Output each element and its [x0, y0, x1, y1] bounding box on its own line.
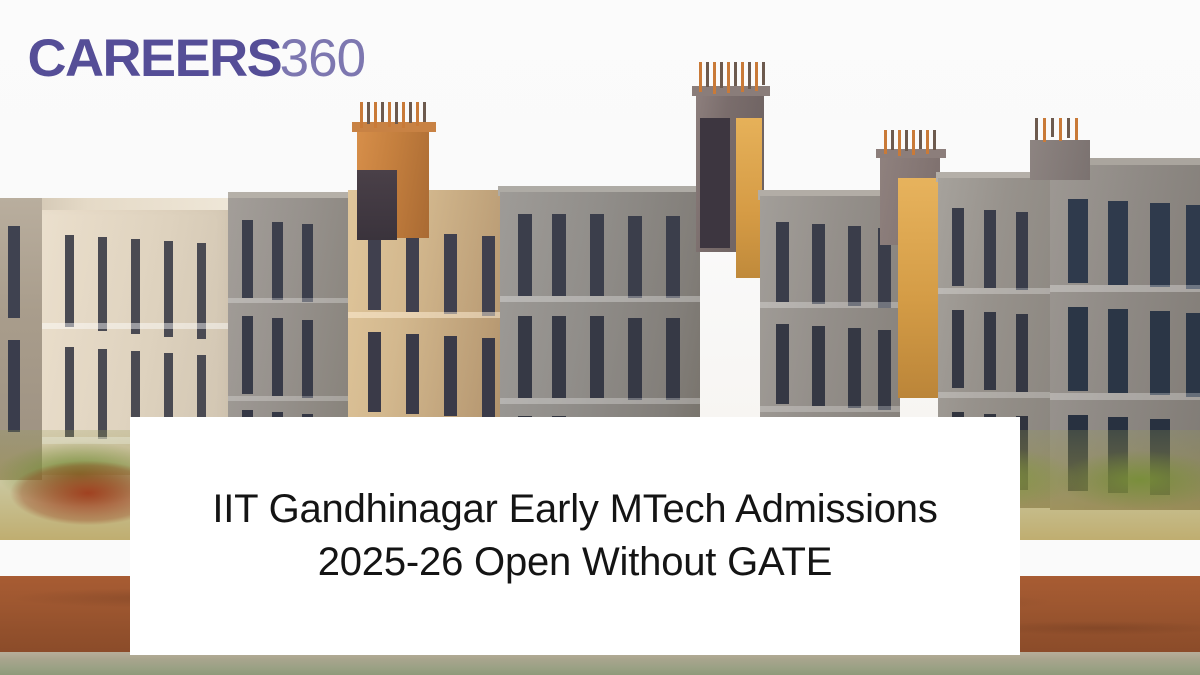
- headline-text: IIT Gandhinagar Early MTech Admissions 2…: [195, 483, 955, 589]
- rebar-cluster-right: [882, 130, 940, 156]
- rebar-cluster-center: [697, 62, 767, 94]
- construction-tower-farright: [1030, 140, 1090, 180]
- building-right-sunlit-edge: [898, 178, 940, 398]
- rebar-cluster-farright: [1032, 118, 1088, 142]
- headline-card: IIT Gandhinagar Early MTech Admissions 2…: [130, 417, 1020, 655]
- rebar-cluster-left: [358, 102, 430, 128]
- careers360-logo[interactable]: CAREERS 360: [30, 32, 365, 85]
- promo-banner: CAREERS 360 IIT Gandhinagar Early MTech …: [0, 0, 1200, 675]
- logo-wordmark-primary: CAREERS: [28, 32, 282, 85]
- waterline-strip: [0, 652, 1200, 675]
- logo-wordmark-secondary: 360: [280, 32, 365, 85]
- construction-tower-left-shaft: [357, 170, 397, 240]
- construction-tower-center-shaft: [700, 118, 730, 248]
